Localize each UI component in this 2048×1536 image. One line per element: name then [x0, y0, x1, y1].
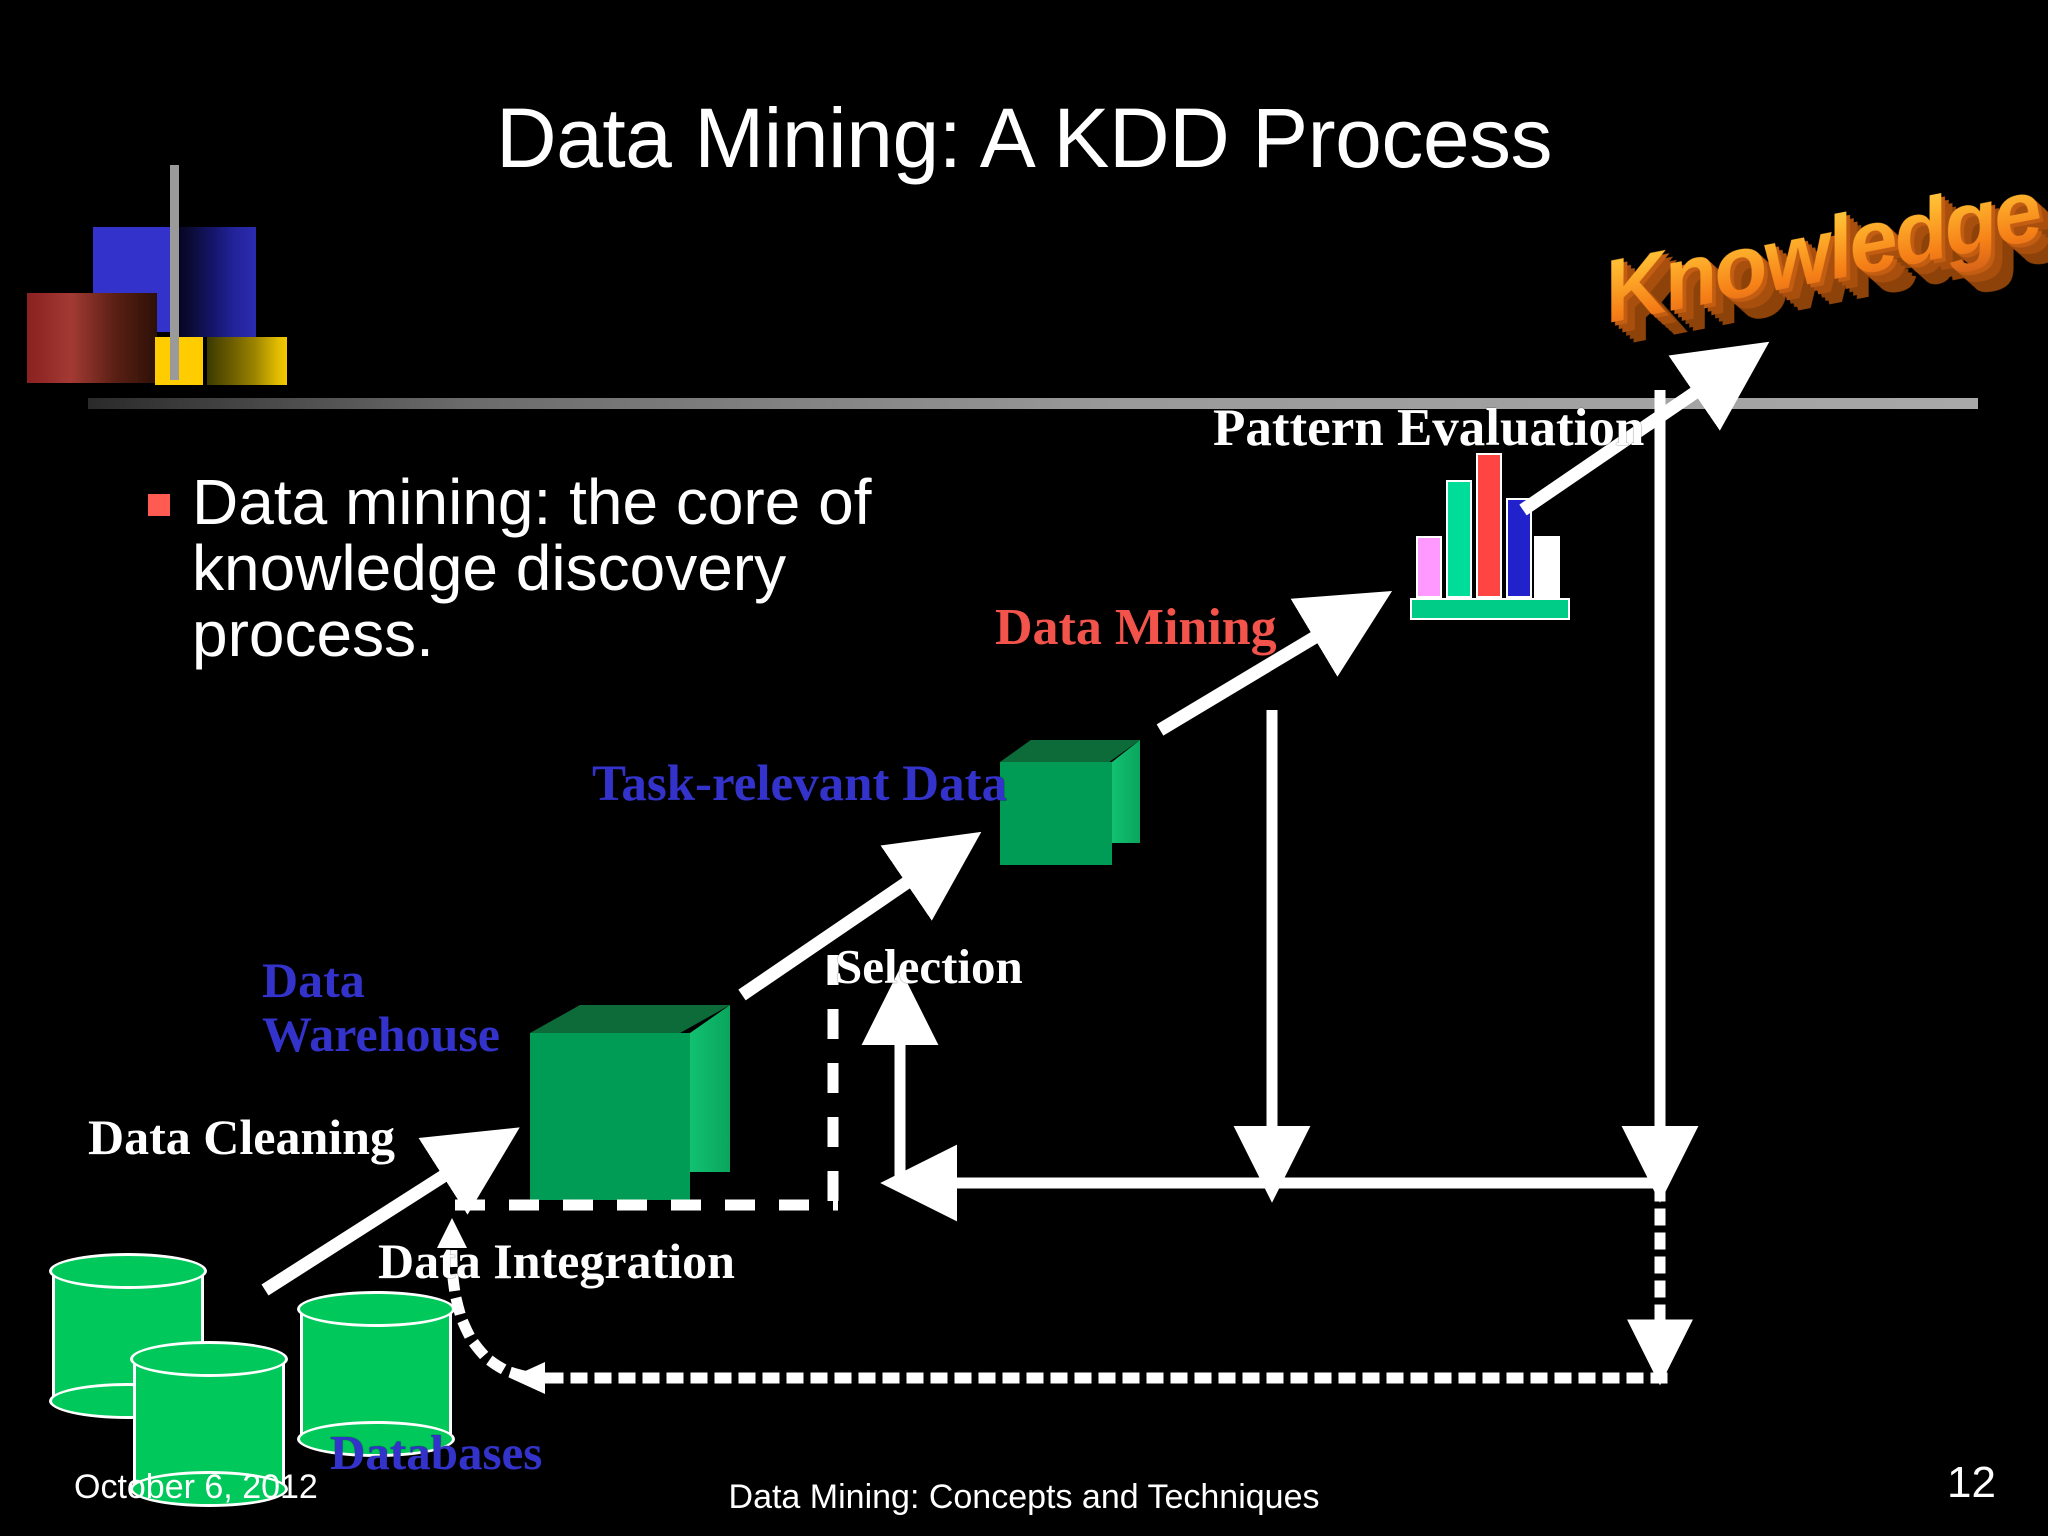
logo-block-yellow-flat: [155, 337, 203, 385]
database-cylinder: [300, 1310, 452, 1438]
chart-bar-1: [1416, 536, 1442, 598]
cylinder-top: [49, 1253, 207, 1289]
bullet-list: Data mining: the core of knowledge disco…: [148, 470, 968, 668]
chart-bar-5: [1534, 536, 1560, 598]
cylinder-top: [297, 1291, 455, 1327]
cube-right-face: [690, 1005, 730, 1172]
label-data-warehouse: Data Warehouse: [262, 953, 500, 1061]
chart-base-bar: [1410, 598, 1570, 620]
data-warehouse-cube: [530, 1005, 730, 1200]
label-pattern-evaluation: Pattern Evaluation: [1213, 398, 1644, 458]
label-databases: Databases: [330, 1424, 542, 1481]
bullet-item-text: Data mining: the core of knowledge disco…: [192, 470, 968, 668]
label-data-mining: Data Mining: [995, 598, 1277, 657]
label-data-integration: Data Integration: [378, 1232, 735, 1290]
logo-block-red-gradient: [27, 293, 157, 383]
decorative-logo: [0, 165, 320, 380]
cube-front-face: [1000, 762, 1112, 865]
chart-bar-4: [1506, 498, 1532, 598]
label-data-warehouse-line1: Data: [262, 953, 500, 1007]
chart-bar-3: [1476, 453, 1502, 598]
slide-canvas: Data Mining: A KDD Process Data mining: …: [0, 0, 2048, 1536]
footer-center-text: Data Mining: Concepts and Techniques: [0, 1478, 2048, 1517]
bullet-square-icon: [148, 494, 170, 516]
header-divider-rule: [88, 398, 1978, 409]
logo-block-blue-gradient: [178, 227, 256, 337]
pattern-evaluation-bar-chart: [1410, 440, 1580, 620]
integration-arrowhead-left: [510, 1362, 545, 1394]
task-relevant-data-cube: [1000, 740, 1140, 865]
cube-front-face: [530, 1033, 690, 1200]
logo-vertical-rule: [170, 165, 179, 380]
cylinder-body: [300, 1310, 452, 1438]
label-selection: Selection: [835, 938, 1023, 995]
knowledge-wordart: Knowledge: [1594, 159, 2048, 344]
footer-page-number: 12: [1947, 1458, 1996, 1508]
label-data-cleaning: Data Cleaning: [88, 1108, 395, 1166]
cylinder-top: [130, 1341, 288, 1377]
chart-bar-2: [1446, 480, 1472, 598]
label-data-warehouse-line2: Warehouse: [262, 1007, 500, 1061]
label-task-relevant-data: Task-relevant Data: [592, 755, 1007, 813]
logo-block-yellow-gradient: [207, 337, 287, 385]
